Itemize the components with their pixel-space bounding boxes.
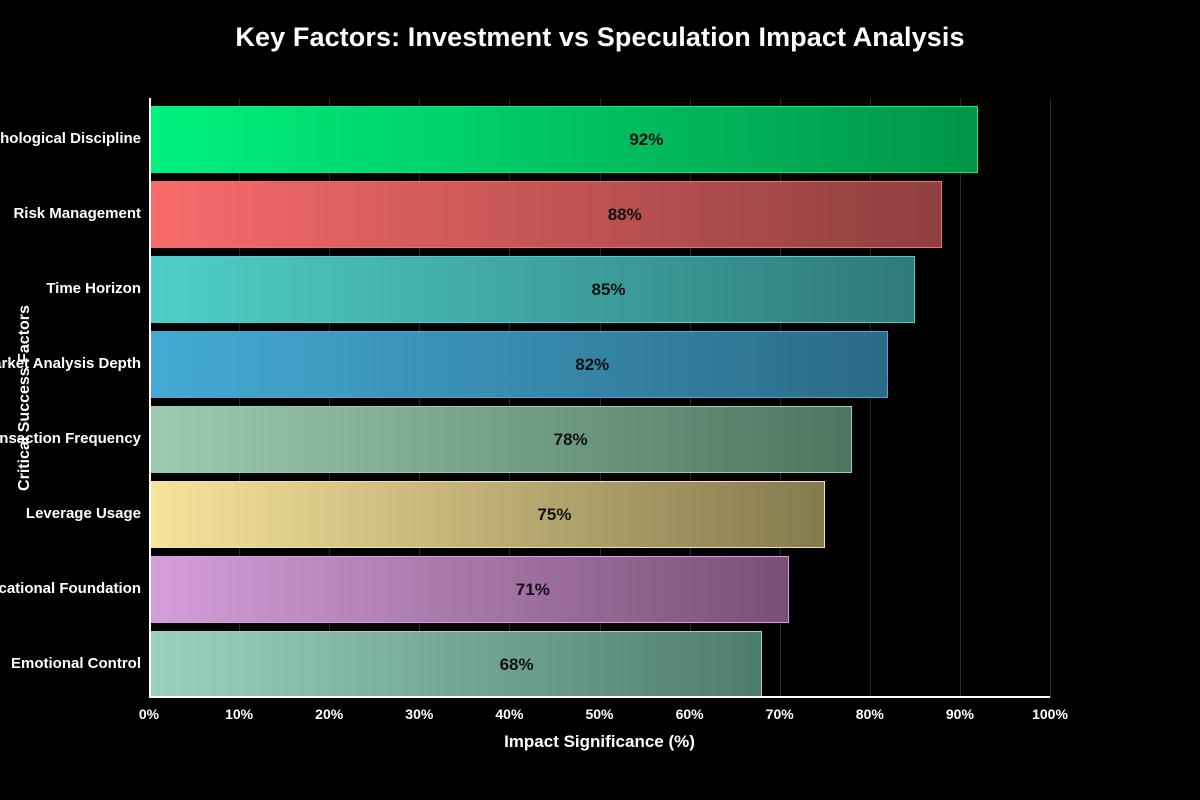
y-axis-title: Critical Success Factors xyxy=(16,305,34,491)
x-axis-tick-label: 70% xyxy=(766,706,794,722)
x-axis-tick-label: 100% xyxy=(1032,706,1068,722)
bar[interactable] xyxy=(149,181,942,248)
x-axis-title: Impact Significance (%) xyxy=(149,732,1050,752)
bar-row[interactable]: 75% xyxy=(149,481,1050,548)
y-axis-tick-label: Leverage Usage xyxy=(0,505,141,522)
x-axis-tick-label: 80% xyxy=(856,706,884,722)
bar[interactable] xyxy=(149,481,825,548)
chart-figure: Key Factors: Investment vs Speculation I… xyxy=(0,0,1200,800)
plot-area: 92%88%85%82%78%75%71%68% xyxy=(149,98,1050,698)
x-axis-tick-label: 0% xyxy=(139,706,159,722)
bar-value-label: 85% xyxy=(591,256,625,323)
bar[interactable] xyxy=(149,406,852,473)
bar-value-label: 92% xyxy=(629,106,663,173)
bar[interactable] xyxy=(149,331,888,398)
y-axis-tick-label: Risk Management xyxy=(0,205,141,222)
bar[interactable] xyxy=(149,256,915,323)
x-axis-tick-label: 30% xyxy=(405,706,433,722)
x-axis-tick-label: 50% xyxy=(585,706,613,722)
x-axis-tick-label: 10% xyxy=(225,706,253,722)
x-axis-tick-label: 90% xyxy=(946,706,974,722)
bar-row[interactable]: 92% xyxy=(149,106,1050,173)
y-axis-tick-label: Psychological Discipline xyxy=(0,130,141,147)
y-axis-tick-label: Time Horizon xyxy=(0,280,141,297)
bar-row[interactable]: 71% xyxy=(149,556,1050,623)
bar[interactable] xyxy=(149,556,789,623)
gridline xyxy=(1050,98,1051,698)
bar-row[interactable]: 85% xyxy=(149,256,1050,323)
bar[interactable] xyxy=(149,631,762,698)
y-axis-tick-label: Educational Foundation xyxy=(0,580,141,597)
bar[interactable] xyxy=(149,106,978,173)
x-axis-tick-label: 20% xyxy=(315,706,343,722)
bar-value-label: 68% xyxy=(500,631,534,698)
x-axis-spine xyxy=(149,696,1050,698)
y-axis-tick-label: Emotional Control xyxy=(0,655,141,672)
bar-value-label: 88% xyxy=(608,181,642,248)
chart-title: Key Factors: Investment vs Speculation I… xyxy=(0,22,1200,53)
x-axis-tick-label: 60% xyxy=(676,706,704,722)
x-axis-tick-label: 40% xyxy=(495,706,523,722)
bar-row[interactable]: 68% xyxy=(149,631,1050,698)
bar-row[interactable]: 82% xyxy=(149,331,1050,398)
bar-row[interactable]: 88% xyxy=(149,181,1050,248)
bar-value-label: 75% xyxy=(537,481,571,548)
bar-row[interactable]: 78% xyxy=(149,406,1050,473)
bar-value-label: 82% xyxy=(575,331,609,398)
bar-value-label: 71% xyxy=(516,556,550,623)
y-axis-spine xyxy=(149,98,151,698)
bar-value-label: 78% xyxy=(554,406,588,473)
